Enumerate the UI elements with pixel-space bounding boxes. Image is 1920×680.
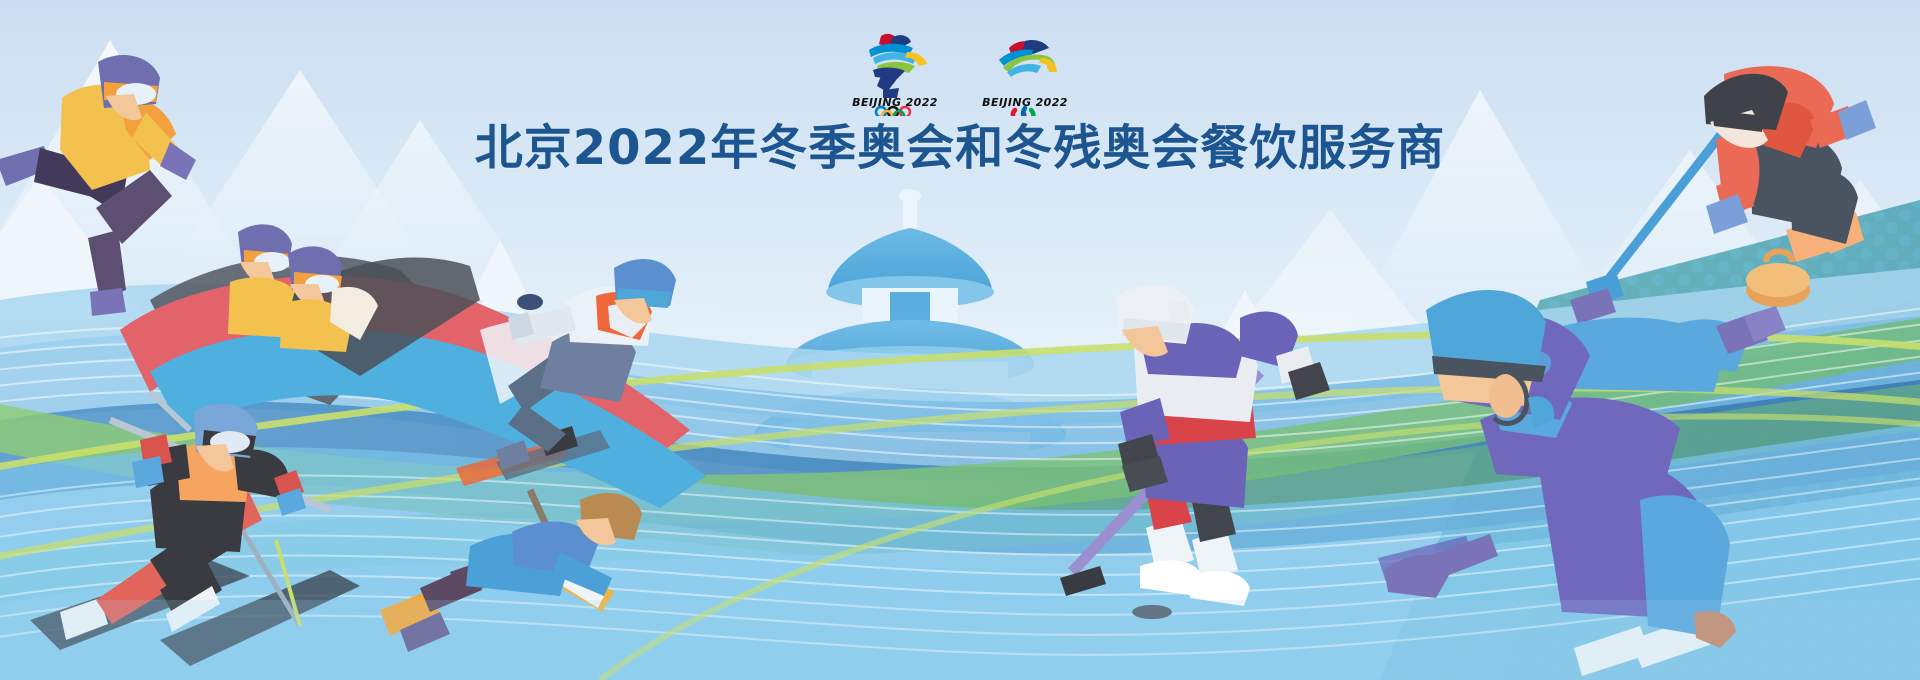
emblem-row: BEIJING 2022	[0, 0, 1920, 116]
flight-emblem	[999, 40, 1057, 77]
winter-dream-emblem	[869, 34, 927, 98]
beijing-2022-paralympic-emblem: BEIJING 2022	[977, 24, 1073, 116]
beijing-2022-olympic-emblem: BEIJING 2022	[847, 24, 943, 116]
page-title: 北京2022年冬季奥会和冬残奥会餐饮服务商	[0, 122, 1920, 175]
agitos-icon	[1013, 108, 1033, 116]
olympic-banner: BEIJING 2022	[0, 0, 1920, 680]
banner-header: BEIJING 2022	[0, 0, 1920, 175]
